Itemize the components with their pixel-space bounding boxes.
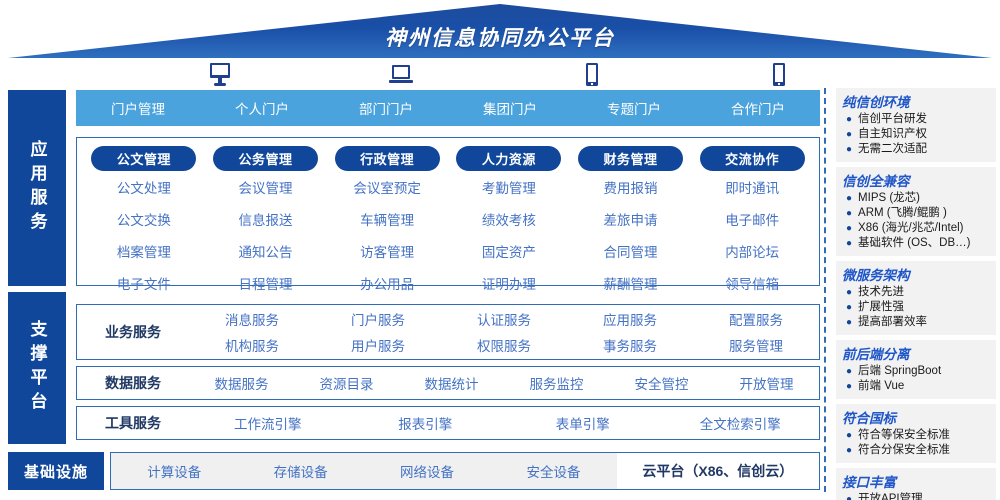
module-item[interactable]: 考勤管理: [448, 171, 570, 203]
portal-bar: 门户管理 个人门户 部门门户 集团门户 专题门户 合作门户: [76, 90, 820, 126]
module-item[interactable]: 办公用品: [326, 267, 448, 299]
sidebar-section-heading: 接口丰富: [842, 471, 990, 491]
bullet-icon: ●: [846, 127, 852, 142]
device-icon-row: [0, 62, 820, 88]
sidebar-list-item: ●技术先进: [842, 285, 990, 300]
feature-sidebar: 纯信创环境 ●信创平台研发 ●自主知识产权 ●无需二次适配 信创全兼容 ●MIP…: [836, 88, 996, 500]
bullet-icon: ●: [846, 221, 852, 236]
sidebar-section-heading: 信创全兼容: [842, 170, 990, 190]
business-services-box: 业务服务 消息服务 门户服务 认证服务 应用服务 配置服务 机构服务 用户服务 …: [76, 304, 820, 360]
module-item[interactable]: 绩效考核: [448, 203, 570, 235]
sidebar-list-item: ●自主知识产权: [842, 127, 990, 142]
module-item[interactable]: 会议管理: [205, 171, 327, 203]
sidebar-section: 符合国标 ●符合等保安全标准 ●符合分保安全标准: [836, 404, 996, 463]
sidebar-item-label: 自主知识产权: [858, 127, 927, 142]
service-item[interactable]: 资源目录: [294, 370, 399, 396]
service-item[interactable]: 消息服务: [189, 306, 315, 332]
desktop-monitor-icon: [208, 62, 232, 88]
sidebar-list-item: ●符合分保安全标准: [842, 443, 990, 458]
module-item[interactable]: 车辆管理: [326, 203, 448, 235]
sidebar-item-label: 信创平台研发: [858, 112, 927, 127]
sidebar-section-heading: 纯信创环境: [842, 91, 990, 111]
bullet-icon: ●: [846, 443, 852, 458]
rail-application-services: 应用服务: [8, 90, 66, 286]
portal-item[interactable]: 个人门户: [200, 98, 324, 118]
module-header[interactable]: 人力资源: [456, 146, 561, 171]
page-title: 神州信息协同办公平台: [0, 22, 1000, 52]
sidebar-item-label: 前端 Vue: [858, 379, 904, 394]
sidebar-item-label: 扩展性强: [858, 300, 904, 315]
module-item[interactable]: 固定资产: [448, 235, 570, 267]
bullet-icon: ●: [846, 315, 852, 330]
module-item[interactable]: 公文处理: [83, 171, 205, 203]
sidebar-list-item: ●信创平台研发: [842, 112, 990, 127]
sidebar-section-heading: 符合国标: [842, 407, 990, 427]
infrastructure-item[interactable]: 安全设备: [490, 461, 616, 481]
module-item[interactable]: 信息报送: [205, 203, 327, 235]
module-item[interactable]: 证明办理: [448, 267, 570, 299]
service-item[interactable]: 权限服务: [441, 332, 567, 358]
architecture-diagram: 神州信息协同办公平台: [0, 0, 1000, 500]
module-header[interactable]: 公文管理: [91, 146, 196, 171]
module-item[interactable]: 薪酬管理: [570, 267, 692, 299]
module-header-row: 公文管理 公务管理 行政管理 人力资源 财务管理 交流协作: [77, 138, 819, 171]
service-item[interactable]: 应用服务: [567, 306, 693, 332]
business-services-row: 消息服务 门户服务 认证服务 应用服务 配置服务: [189, 306, 819, 332]
cloud-platform-item[interactable]: 云平台（X86、信创云）: [617, 453, 819, 489]
rail-support-platform: 支撑平台: [8, 292, 66, 444]
bullet-icon: ●: [846, 364, 852, 379]
service-item[interactable]: 服务监控: [504, 370, 609, 396]
module-item[interactable]: 费用报销: [570, 171, 692, 203]
service-item[interactable]: 门户服务: [315, 306, 441, 332]
module-item[interactable]: 合同管理: [570, 235, 692, 267]
sidebar-item-label: 符合分保安全标准: [858, 443, 950, 458]
sidebar-item-label: 符合等保安全标准: [858, 428, 950, 443]
sidebar-section: 微服务架构 ●技术先进 ●扩展性强 ●提高部署效率: [836, 261, 996, 335]
section-divider: [824, 88, 826, 492]
portal-item[interactable]: 专题门户: [572, 98, 696, 118]
module-item[interactable]: 档案管理: [83, 235, 205, 267]
module-item[interactable]: 会议室预定: [326, 171, 448, 203]
bullet-icon: ●: [846, 112, 852, 127]
sidebar-list-item: ●提高部署效率: [842, 315, 990, 330]
module-header[interactable]: 公务管理: [213, 146, 318, 171]
portal-item[interactable]: 部门门户: [324, 98, 448, 118]
infrastructure-item[interactable]: 网络设备: [364, 461, 490, 481]
sidebar-section: 纯信创环境 ●信创平台研发 ●自主知识产权 ●无需二次适配: [836, 88, 996, 162]
module-item[interactable]: 日程管理: [205, 267, 327, 299]
service-item[interactable]: 数据服务: [189, 370, 294, 396]
module-item-row: 电子文件 日程管理 办公用品 证明办理 薪酬管理 领导信箱: [77, 267, 819, 299]
sidebar-item-label: MIPS (龙芯): [858, 191, 920, 206]
service-item[interactable]: 用户服务: [315, 332, 441, 358]
infrastructure-item[interactable]: 存储设备: [237, 461, 363, 481]
module-item[interactable]: 电子文件: [83, 267, 205, 299]
module-header[interactable]: 交流协作: [700, 146, 805, 171]
module-header[interactable]: 财务管理: [578, 146, 683, 171]
sidebar-section: 接口丰富 ●开放API管理: [836, 468, 996, 500]
module-item[interactable]: 通知公告: [205, 235, 327, 267]
sidebar-list-item: ●前端 Vue: [842, 379, 990, 394]
tool-services-box: 工具服务 工作流引擎 报表引擎 表单引擎 全文检索引擎: [76, 406, 820, 440]
bullet-icon: ●: [846, 206, 852, 221]
sidebar-section-heading: 微服务架构: [842, 264, 990, 284]
module-item-row: 公文处理 会议管理 会议室预定 考勤管理 费用报销 即时通讯: [77, 171, 819, 203]
service-item[interactable]: 数据统计: [399, 370, 504, 396]
module-item[interactable]: 即时通讯: [691, 171, 813, 203]
service-item[interactable]: 开放管理: [714, 370, 819, 396]
bullet-icon: ●: [846, 285, 852, 300]
module-item[interactable]: 访客管理: [326, 235, 448, 267]
data-services-box: 数据服务 数据服务 资源目录 数据统计 服务监控 安全管控 开放管理: [76, 366, 820, 400]
service-item[interactable]: 表单引擎: [504, 410, 662, 436]
tablet-icon: [772, 62, 786, 88]
sidebar-item-label: 提高部署效率: [858, 315, 927, 330]
service-item[interactable]: 机构服务: [189, 332, 315, 358]
smartphone-icon: [585, 62, 599, 88]
module-item[interactable]: 公文交换: [83, 203, 205, 235]
service-item[interactable]: 配置服务: [693, 306, 819, 332]
sidebar-item-label: 开放API管理: [858, 492, 923, 500]
sidebar-item-label: X86 (海光/兆芯/Intel): [858, 221, 963, 236]
bullet-icon: ●: [846, 236, 852, 251]
bullet-icon: ●: [846, 428, 852, 443]
bullet-icon: ●: [846, 300, 852, 315]
module-item[interactable]: 差旅申请: [570, 203, 692, 235]
bullet-icon: ●: [846, 379, 852, 394]
sidebar-list-item: ●扩展性强: [842, 300, 990, 315]
business-services-label: 业务服务: [77, 322, 189, 342]
sidebar-item-label: 无需二次适配: [858, 142, 927, 157]
infrastructure-box: 计算设备 存储设备 网络设备 安全设备 云平台（X86、信创云）: [110, 452, 820, 490]
laptop-icon: [388, 62, 414, 88]
sidebar-item-label: ARM (飞腾/鲲鹏 ): [858, 206, 947, 221]
sidebar-list-item: ●基础软件 (OS、DB…): [842, 236, 990, 251]
sidebar-list-item: ●开放API管理: [842, 492, 990, 500]
portal-item[interactable]: 合作门户: [696, 98, 820, 118]
service-item[interactable]: 安全管控: [609, 370, 714, 396]
sidebar-section: 信创全兼容 ●MIPS (龙芯) ●ARM (飞腾/鲲鹏 ) ●X86 (海光/…: [836, 167, 996, 256]
service-item[interactable]: 服务管理: [693, 332, 819, 358]
bullet-icon: ●: [846, 492, 852, 500]
sidebar-list-item: ●MIPS (龙芯): [842, 191, 990, 206]
sidebar-list-item: ●无需二次适配: [842, 142, 990, 157]
portal-item[interactable]: 门户管理: [76, 98, 200, 118]
business-services-row: 机构服务 用户服务 权限服务 事务服务 服务管理: [189, 332, 819, 358]
infrastructure-item[interactable]: 计算设备: [111, 461, 237, 481]
tool-services-label: 工具服务: [77, 413, 189, 433]
module-item-row: 公文交换 信息报送 车辆管理 绩效考核 差旅申请 电子邮件: [77, 203, 819, 235]
module-header[interactable]: 行政管理: [335, 146, 440, 171]
service-item[interactable]: 事务服务: [567, 332, 693, 358]
module-item[interactable]: 领导信箱: [691, 267, 813, 299]
title-banner: 神州信息协同办公平台: [0, 0, 1000, 62]
sidebar-item-label: 后端 SpringBoot: [858, 364, 941, 379]
sidebar-list-item: ●X86 (海光/兆芯/Intel): [842, 221, 990, 236]
portal-item[interactable]: 集团门户: [448, 98, 572, 118]
service-item[interactable]: 认证服务: [441, 306, 567, 332]
service-item[interactable]: 工作流引擎: [189, 410, 347, 436]
rail-infrastructure: 基础设施: [8, 452, 104, 490]
sidebar-item-label: 技术先进: [858, 285, 904, 300]
module-item-row: 档案管理 通知公告 访客管理 固定资产 合同管理 内部论坛: [77, 235, 819, 267]
sidebar-list-item: ●符合等保安全标准: [842, 428, 990, 443]
sidebar-item-label: 基础软件 (OS、DB…): [858, 236, 970, 251]
service-item[interactable]: 全文检索引擎: [662, 410, 820, 436]
service-item[interactable]: 报表引擎: [347, 410, 505, 436]
tool-services-row: 工作流引擎 报表引擎 表单引擎 全文检索引擎: [189, 410, 819, 436]
module-item[interactable]: 内部论坛: [691, 235, 813, 267]
sidebar-section-heading: 前后端分离: [842, 343, 990, 363]
data-services-row: 数据服务 资源目录 数据统计 服务监控 安全管控 开放管理: [189, 370, 819, 396]
sidebar-list-item: ●后端 SpringBoot: [842, 364, 990, 379]
data-services-label: 数据服务: [77, 373, 189, 393]
sidebar-list-item: ●ARM (飞腾/鲲鹏 ): [842, 206, 990, 221]
sidebar-section: 前后端分离 ●后端 SpringBoot ●前端 Vue: [836, 340, 996, 399]
bullet-icon: ●: [846, 142, 852, 157]
bullet-icon: ●: [846, 191, 852, 206]
application-services-box: 公文管理 公务管理 行政管理 人力资源 财务管理 交流协作 公文处理 会议管理 …: [76, 137, 820, 286]
module-item[interactable]: 电子邮件: [691, 203, 813, 235]
